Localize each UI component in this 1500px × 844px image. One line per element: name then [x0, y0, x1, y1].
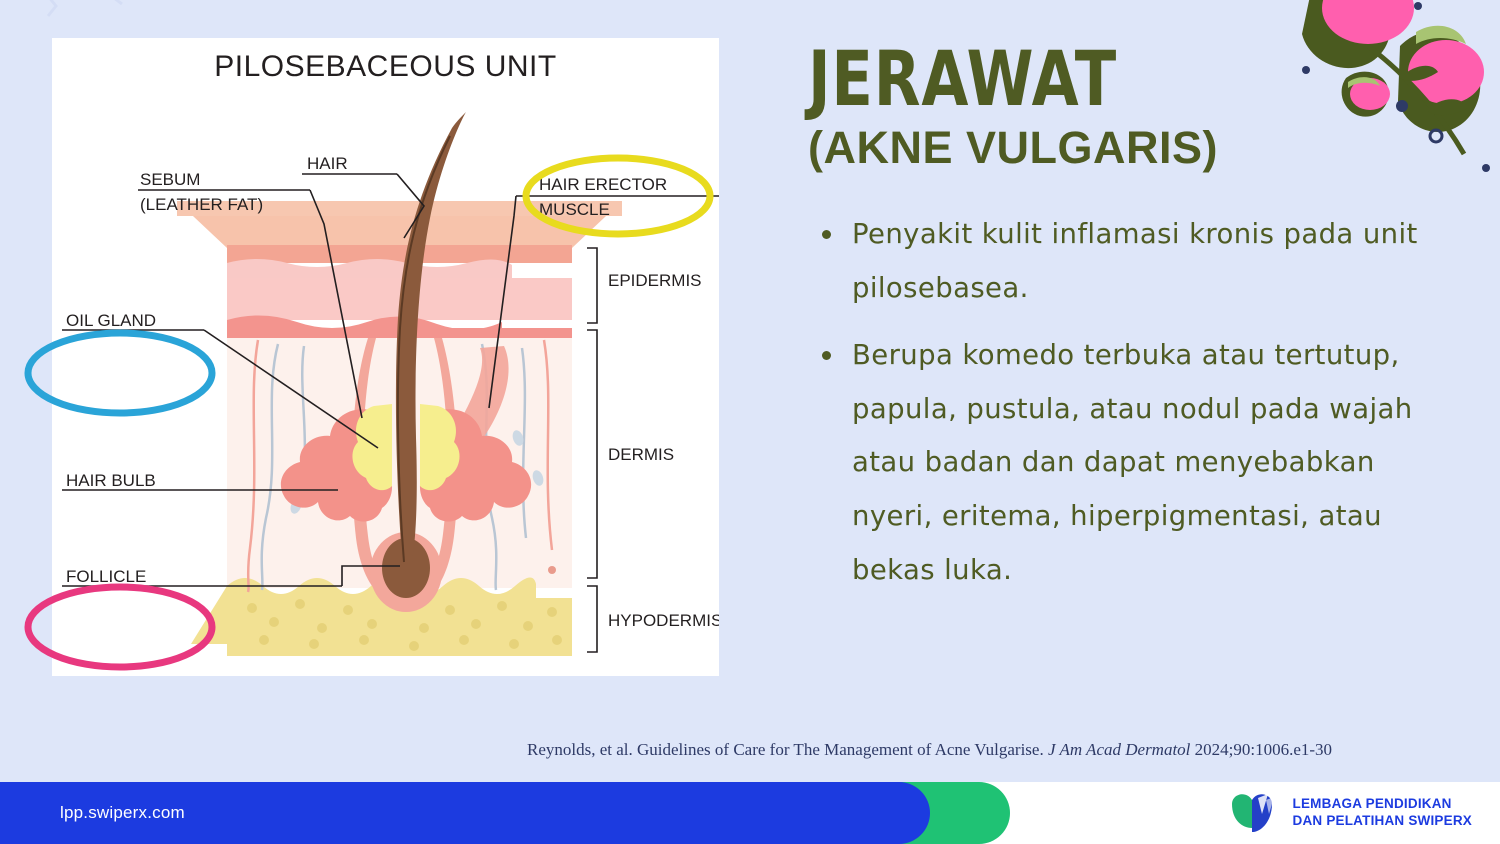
content-column: JERAWAT (AKNE VULGARIS) Penyakit kulit i…: [808, 44, 1458, 611]
slide-canvas: PILOSEBACEOUS UNIT: [0, 0, 1500, 844]
footer-url[interactable]: lpp.swiperx.com: [60, 782, 185, 844]
corner-marks-decoration: [18, 0, 168, 28]
citation: Reynolds, et al. Guidelines of Care for …: [527, 740, 1472, 760]
logo-text: LEMBAGA PENDIDIKAN DAN PELATIHAN SWIPERX: [1293, 796, 1472, 830]
list-item: Penyakit kulit inflamasi kronis pada uni…: [808, 208, 1458, 315]
highlight-circle-follicle: [28, 587, 212, 667]
bullet-text: Penyakit kulit inflamasi kronis pada uni…: [852, 218, 1418, 304]
footer-bar: lpp.swiperx.com LEMBAGA PENDIDIKAN DAN P…: [0, 782, 1500, 844]
bullet-dot-icon: [822, 230, 831, 239]
list-item: Berupa komedo terbuka atau tertutup, pap…: [808, 329, 1458, 597]
bullet-list: Penyakit kulit inflamasi kronis pada uni…: [808, 208, 1458, 597]
citation-journal: J Am Acad Dermatol: [1048, 740, 1190, 759]
pilosebaceous-diagram-panel: PILOSEBACEOUS UNIT: [52, 38, 719, 676]
annotation-circles: [12, 28, 772, 708]
citation-part2: 2024;90:1006.e1-30: [1195, 740, 1332, 759]
page-subtitle: (AKNE VULGARIS): [808, 122, 1458, 174]
bullet-dot-icon: [822, 351, 831, 360]
citation-part1: Reynolds, et al. Guidelines of Care for …: [527, 740, 1044, 759]
logo-line1: LEMBAGA PENDIDIKAN: [1293, 796, 1472, 813]
highlight-circle-oil-gland: [28, 333, 212, 413]
highlight-circle-hair-erector-muscle: [526, 158, 710, 234]
bullet-text: Berupa komedo terbuka atau tertutup, pap…: [852, 339, 1413, 586]
page-title: JERAWAT: [808, 44, 1328, 114]
swiperx-logo: LEMBAGA PENDIDIKAN DAN PELATIHAN SWIPERX: [1228, 790, 1472, 836]
swiperx-logo-icon: [1228, 792, 1284, 834]
logo-line2: DAN PELATIHAN SWIPERX: [1293, 813, 1472, 830]
